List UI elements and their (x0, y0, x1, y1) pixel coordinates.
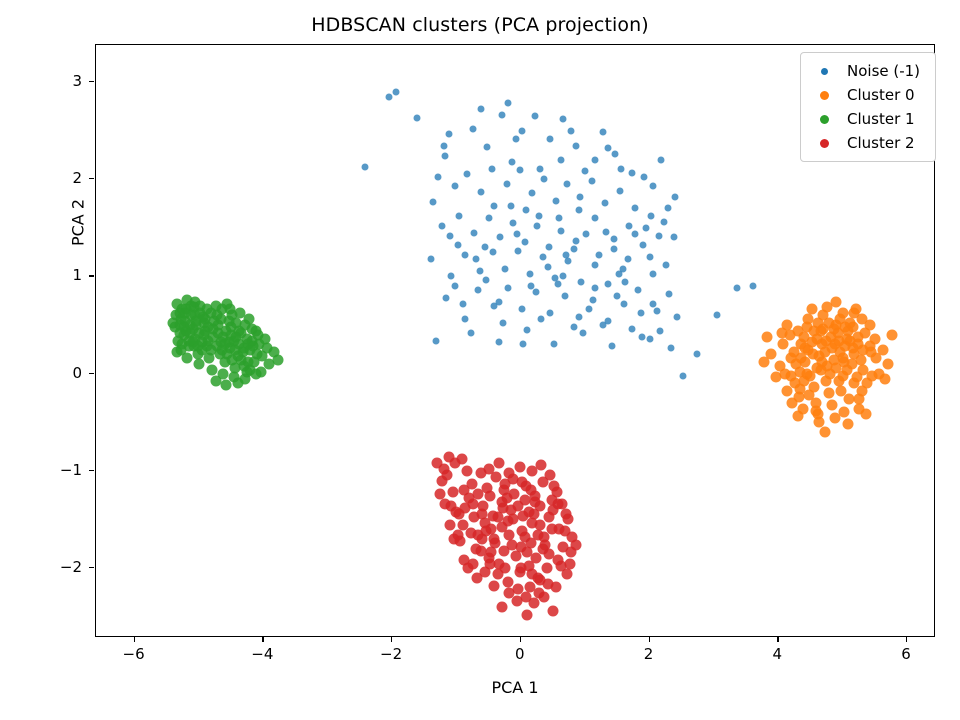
data-point (672, 193, 679, 200)
data-point (447, 232, 454, 239)
data-point (660, 218, 667, 225)
data-point (564, 181, 571, 188)
data-point (488, 166, 495, 173)
data-point (470, 125, 477, 132)
y-tick-label: −1 (56, 461, 82, 479)
data-point (447, 487, 458, 498)
data-point (656, 327, 663, 334)
data-point (471, 229, 478, 236)
data-point (489, 249, 496, 256)
data-point (650, 300, 657, 307)
legend-label: Noise (-1) (847, 62, 920, 80)
data-point (427, 255, 434, 262)
data-point (183, 335, 194, 346)
x-tick-mark (520, 637, 521, 642)
data-point (537, 166, 544, 173)
data-point (468, 559, 479, 570)
data-point (553, 498, 564, 509)
legend-item-0[interactable]: Noise (-1) (801, 59, 935, 83)
data-point (663, 261, 670, 268)
data-point (467, 329, 474, 336)
data-point (544, 263, 551, 270)
data-point (836, 386, 847, 397)
data-point (462, 251, 469, 258)
data-point (205, 345, 216, 356)
data-point (521, 239, 528, 246)
data-point (555, 281, 562, 288)
data-point (549, 481, 560, 492)
data-point (855, 354, 866, 365)
data-point (734, 285, 741, 292)
data-point (638, 333, 645, 340)
data-point (791, 358, 802, 369)
data-point (523, 506, 534, 517)
data-point (533, 288, 540, 295)
data-point (625, 222, 632, 229)
data-point (842, 419, 853, 430)
data-point (504, 588, 515, 599)
data-point (536, 459, 547, 470)
data-point (477, 106, 484, 113)
legend-item-1[interactable]: Cluster 0 (801, 83, 935, 107)
data-point (624, 255, 631, 262)
data-point (806, 304, 817, 315)
data-point (491, 471, 502, 482)
data-point (524, 326, 531, 333)
data-point (459, 485, 470, 496)
data-point (777, 327, 788, 338)
data-point (616, 187, 623, 194)
data-point (174, 319, 185, 330)
data-point (212, 310, 223, 321)
data-point (575, 314, 582, 321)
data-point (495, 298, 502, 305)
data-point (628, 325, 635, 332)
data-point (502, 576, 513, 587)
data-point (547, 136, 554, 143)
data-point (515, 563, 526, 574)
data-point (680, 372, 687, 379)
data-point (578, 279, 585, 286)
data-point (507, 203, 514, 210)
data-point (592, 156, 599, 163)
data-point (610, 246, 617, 253)
data-point (622, 279, 629, 286)
data-point (208, 331, 219, 342)
data-point (532, 529, 543, 540)
data-point (546, 244, 553, 251)
data-point (472, 255, 479, 262)
data-point (668, 345, 675, 352)
data-point (527, 518, 538, 529)
data-point (800, 343, 811, 354)
data-point (529, 189, 536, 196)
data-point (654, 308, 661, 315)
data-point (461, 465, 472, 476)
data-point (560, 273, 567, 280)
data-point (628, 170, 635, 177)
data-point (551, 341, 558, 348)
data-point (820, 335, 831, 346)
data-point (233, 325, 244, 336)
data-point (596, 251, 603, 258)
scatter-plot-figure: HDBSCAN clusters (PCA projection) PCA 1 … (0, 0, 960, 720)
data-point (477, 533, 488, 544)
data-point (224, 304, 235, 315)
legend-marker-icon (820, 139, 829, 148)
data-point (592, 285, 599, 292)
data-point (655, 232, 662, 239)
data-point (827, 399, 838, 410)
data-point (637, 310, 644, 317)
data-point (828, 323, 839, 334)
data-point (849, 378, 860, 389)
data-point (496, 601, 507, 612)
data-point (665, 290, 672, 297)
data-point (605, 281, 612, 288)
data-point (586, 306, 593, 313)
y-tick-mark (89, 567, 94, 568)
data-point (470, 543, 481, 554)
data-point (495, 338, 502, 345)
data-point (504, 100, 511, 107)
data-point (438, 463, 449, 474)
data-point (468, 498, 479, 509)
data-point (609, 343, 616, 350)
data-point (531, 553, 542, 564)
y-tick-mark (89, 373, 94, 374)
data-point (867, 370, 878, 381)
data-point (646, 335, 653, 342)
data-point (206, 364, 217, 375)
legend-item-2[interactable]: Cluster 1 (801, 107, 935, 131)
data-point (437, 475, 448, 486)
data-point (646, 253, 653, 260)
data-point (833, 335, 844, 346)
data-point (544, 512, 555, 523)
data-point (502, 265, 509, 272)
data-point (440, 143, 447, 150)
legend-marker-icon (820, 115, 829, 124)
data-point (187, 323, 198, 334)
data-point (658, 156, 665, 163)
data-point (475, 286, 482, 293)
data-point (860, 409, 871, 420)
data-point (508, 473, 519, 484)
data-point (451, 182, 458, 189)
y-tick-label: 2 (56, 169, 82, 187)
data-point (541, 176, 548, 183)
data-point (500, 563, 511, 574)
x-tick-label: 2 (644, 645, 654, 663)
x-tick-mark (391, 637, 392, 642)
data-point (481, 244, 488, 251)
data-point (529, 496, 540, 507)
data-point (573, 143, 580, 150)
data-point (829, 413, 840, 424)
data-point (533, 222, 540, 229)
data-point (782, 386, 793, 397)
data-point (611, 150, 618, 157)
data-point (588, 178, 595, 185)
data-point (610, 236, 617, 243)
data-point (634, 286, 641, 293)
data-point (837, 353, 848, 364)
data-point (522, 207, 529, 214)
data-point (546, 524, 557, 535)
data-point (501, 493, 512, 504)
data-point (435, 174, 442, 181)
data-point (513, 500, 524, 511)
data-point (813, 318, 824, 329)
data-point (476, 267, 483, 274)
page-title: HDBSCAN clusters (PCA projection) (0, 14, 960, 36)
data-point (201, 304, 212, 315)
data-point (749, 283, 756, 290)
y-tick-label: 3 (56, 72, 82, 90)
data-point (475, 467, 486, 478)
data-point (600, 321, 607, 328)
y-tick-label: 1 (56, 266, 82, 284)
data-point (858, 345, 869, 356)
data-point (541, 563, 552, 574)
data-point (573, 238, 580, 245)
x-tick-mark (134, 637, 135, 642)
data-point (761, 331, 772, 342)
data-point (510, 219, 517, 226)
data-point (223, 316, 234, 327)
data-point (240, 374, 251, 385)
data-point (582, 168, 589, 175)
data-point (179, 308, 190, 319)
data-point (759, 356, 770, 367)
data-point (640, 242, 647, 249)
data-point (219, 339, 230, 350)
data-point (193, 358, 204, 369)
data-point (864, 319, 875, 330)
data-point (605, 145, 612, 152)
data-point (642, 224, 649, 231)
y-tick-label: 0 (56, 364, 82, 382)
data-point (810, 405, 821, 416)
data-point (413, 114, 420, 121)
data-point (559, 526, 570, 537)
data-point (483, 277, 490, 284)
legend[interactable]: Noise (-1)Cluster 0Cluster 1Cluster 2 (800, 52, 936, 162)
data-point (452, 283, 459, 290)
data-point (434, 489, 445, 500)
data-point (245, 364, 256, 375)
data-point (822, 302, 833, 313)
data-point (841, 364, 852, 375)
data-point (804, 389, 815, 400)
data-point (439, 222, 446, 229)
data-point (853, 331, 864, 342)
data-point (512, 136, 519, 143)
data-point (448, 533, 459, 544)
y-tick-mark (89, 81, 94, 82)
data-point (486, 547, 497, 558)
data-point (847, 343, 858, 354)
data-point (192, 341, 203, 352)
data-point (575, 207, 582, 214)
legend-item-3[interactable]: Cluster 2 (801, 131, 935, 155)
data-point (511, 596, 522, 607)
data-point (445, 520, 456, 531)
data-point (560, 115, 567, 122)
data-point (493, 458, 504, 469)
y-axis-label: PCA 2 (69, 95, 88, 351)
data-point (854, 393, 865, 404)
data-point (545, 469, 556, 480)
data-point (591, 261, 598, 268)
data-point (242, 339, 253, 350)
data-point (562, 251, 569, 258)
y-tick-mark (89, 470, 94, 471)
data-point (503, 181, 510, 188)
data-point (499, 545, 510, 556)
data-point (190, 296, 201, 307)
x-tick-mark (906, 637, 907, 642)
data-point (558, 227, 565, 234)
data-point (537, 543, 548, 554)
data-point (484, 559, 495, 570)
data-point (592, 215, 599, 222)
data-point (713, 312, 720, 319)
data-point (514, 248, 521, 255)
data-point (454, 242, 461, 249)
data-point (484, 144, 491, 151)
data-point (880, 374, 891, 385)
data-point (510, 551, 521, 562)
data-point (564, 559, 575, 570)
legend-swatch-cell (801, 68, 847, 75)
data-point (528, 598, 539, 609)
data-point (486, 524, 497, 535)
data-point (650, 271, 657, 278)
data-point (498, 111, 505, 118)
data-point (548, 605, 559, 616)
data-point (456, 213, 463, 220)
data-point (477, 188, 484, 195)
x-tick-mark (777, 637, 778, 642)
data-point (561, 292, 568, 299)
x-tick-label: −4 (251, 645, 273, 663)
data-point (882, 358, 893, 369)
data-point (362, 164, 369, 171)
data-point (497, 234, 504, 241)
data-point (601, 200, 608, 207)
data-point (490, 203, 497, 210)
data-point (221, 380, 232, 391)
data-point (520, 341, 527, 348)
data-point (527, 568, 538, 579)
data-point (817, 356, 828, 367)
data-point (618, 166, 625, 173)
data-point (448, 273, 455, 280)
data-point (632, 230, 639, 237)
y-tick-mark (89, 275, 94, 276)
data-point (430, 199, 437, 206)
data-point (786, 370, 797, 381)
data-point (649, 182, 656, 189)
data-point (443, 452, 454, 463)
data-point (210, 376, 221, 387)
data-point (385, 93, 392, 100)
data-point (441, 152, 448, 159)
data-point (230, 345, 241, 356)
data-point (508, 158, 515, 165)
data-point (614, 292, 621, 299)
data-point (502, 516, 513, 527)
data-point (456, 454, 467, 465)
legend-swatch-cell (801, 91, 847, 100)
data-point (519, 127, 526, 134)
data-point (589, 296, 596, 303)
data-point (550, 582, 561, 593)
data-point (531, 112, 538, 119)
data-point (671, 234, 678, 241)
data-point (526, 485, 537, 496)
data-point (499, 320, 506, 327)
data-point (615, 271, 622, 278)
y-tick-label: −2 (56, 558, 82, 576)
data-point (519, 531, 530, 542)
data-point (787, 397, 798, 408)
legend-label: Cluster 2 (847, 134, 915, 152)
data-point (823, 388, 834, 399)
data-point (519, 306, 526, 313)
data-point (539, 253, 546, 260)
data-point (792, 411, 803, 422)
data-point (552, 197, 559, 204)
data-point (570, 323, 577, 330)
data-point (831, 362, 842, 373)
data-point (886, 329, 897, 340)
data-point (795, 384, 806, 395)
data-point (560, 508, 571, 519)
x-tick-label: 4 (773, 645, 783, 663)
data-point (535, 213, 542, 220)
data-point (579, 329, 586, 336)
data-point (632, 205, 639, 212)
data-point (570, 246, 577, 253)
x-tick-label: 6 (901, 645, 911, 663)
data-point (465, 528, 476, 539)
data-point (236, 354, 247, 365)
x-axis-label: PCA 1 (95, 678, 935, 697)
data-point (513, 230, 520, 237)
data-point (485, 215, 492, 222)
data-point (262, 343, 273, 354)
data-point (583, 230, 590, 237)
data-point (445, 131, 452, 138)
x-tick-mark (262, 637, 263, 642)
data-point (392, 88, 399, 95)
data-point (526, 271, 533, 278)
data-point (492, 512, 503, 523)
data-point (443, 294, 450, 301)
x-tick-label: 0 (515, 645, 525, 663)
data-point (556, 215, 563, 222)
data-point (602, 228, 609, 235)
data-point (522, 609, 533, 620)
data-point (600, 129, 607, 136)
data-point (620, 300, 627, 307)
legend-swatch-cell (801, 115, 847, 124)
data-point (673, 314, 680, 321)
legend-label: Cluster 1 (847, 110, 915, 128)
